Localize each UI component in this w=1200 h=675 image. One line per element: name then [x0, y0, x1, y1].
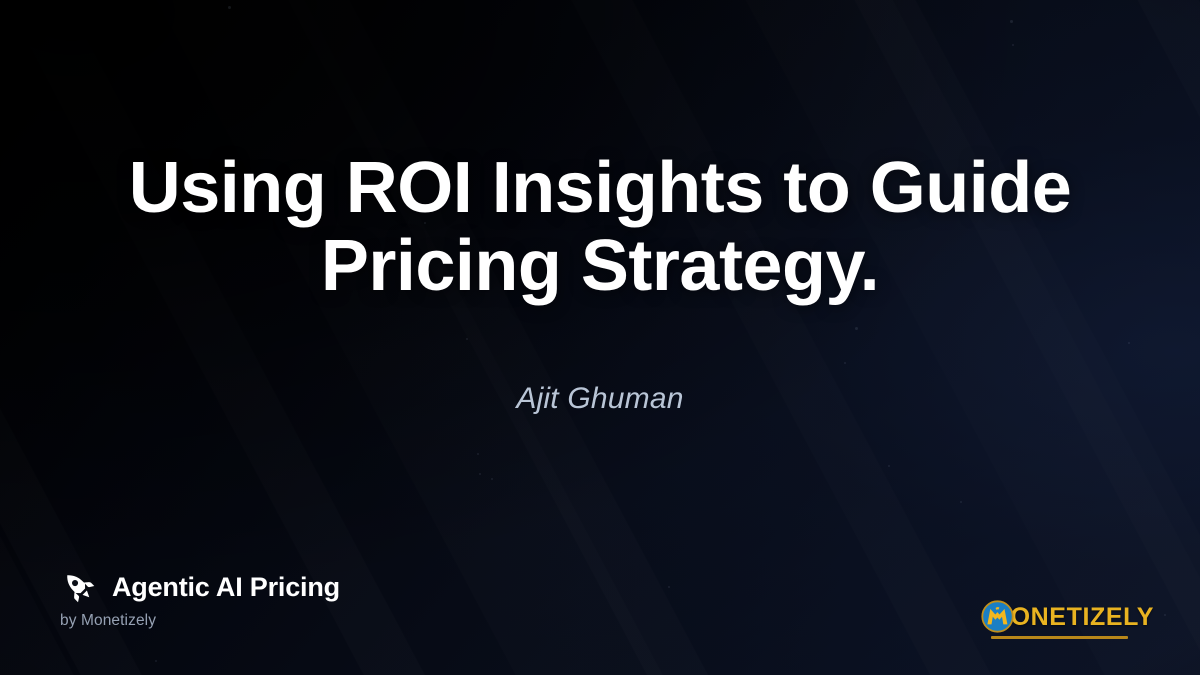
monetizely-logo-icon [981, 600, 1014, 633]
page-title: Using ROI Insights to Guide Pricing Stra… [60, 150, 1140, 306]
logo-underline [991, 636, 1128, 639]
title-slide: Using ROI Insights to Guide Pricing Stra… [0, 0, 1200, 675]
brand-block: Agentic AI Pricing by Monetizely [60, 568, 340, 630]
title-block: Using ROI Insights to Guide Pricing Stra… [0, 150, 1200, 306]
brand-byline: by Monetizely [60, 612, 340, 630]
rocket-icon [60, 568, 98, 606]
brand-name: Agentic AI Pricing [112, 572, 340, 603]
brand-row: Agentic AI Pricing [60, 568, 340, 606]
logo-row: ONETIZELY [981, 600, 1154, 633]
monetizely-logo: ONETIZELY [981, 600, 1154, 639]
monetizely-wordmark: ONETIZELY [1011, 605, 1154, 630]
presenter-name: Ajit Ghuman [0, 382, 1200, 416]
